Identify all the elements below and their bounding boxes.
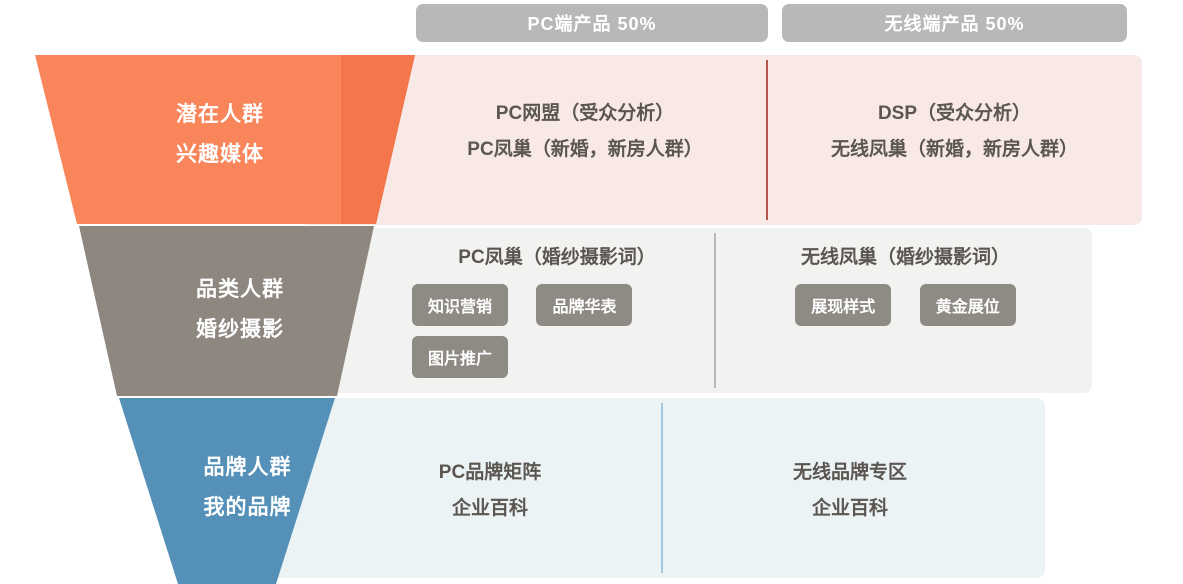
funnel-label-1-subtitle: 兴趣媒体 <box>120 135 320 175</box>
cell-row2-wireless-tags: 展现样式 黄金展位 <box>733 284 1078 336</box>
cell-row3-pc-line-2: 企业百科 <box>340 491 640 527</box>
funnel-label-2: 品类人群 婚纱摄影 <box>140 270 340 350</box>
header-pill-pc[interactable]: PC端产品 50% <box>416 4 768 42</box>
cell-row2-pc-line-1: PC凤巢（婚纱摄影词） <box>412 240 702 276</box>
tag-huangjinzhanwei[interactable]: 黄金展位 <box>920 284 1016 326</box>
cell-row1-pc: PC网盟（受众分析） PC凤巢（新婚，新房人群） <box>420 96 750 168</box>
cell-row1-pc-line-1: PC网盟（受众分析） <box>420 96 750 132</box>
cell-row1-wireless-line-1: DSP（受众分析） <box>782 96 1127 132</box>
funnel-label-3: 品牌人群 我的品牌 <box>155 448 340 528</box>
header-pill-pc-label: PC端产品 50% <box>527 10 656 36</box>
cell-row2-wireless-line-1: 无线凤巢（婚纱摄影词） <box>733 240 1078 276</box>
cell-row2-pc: PC凤巢（婚纱摄影词） 知识营销 品牌华表 图片推广 <box>412 240 702 388</box>
cell-row3-wireless-line-2: 企业百科 <box>700 491 1000 527</box>
tag-zhanxianyangshi[interactable]: 展现样式 <box>795 284 891 326</box>
funnel-label-3-title: 品牌人群 <box>155 448 340 488</box>
cell-row2-wireless: 无线凤巢（婚纱摄影词） 展现样式 黄金展位 <box>733 240 1078 336</box>
column-divider-row-3 <box>661 403 663 573</box>
column-divider-row-1 <box>766 60 768 220</box>
cell-row3-pc-line-1: PC品牌矩阵 <box>340 455 640 491</box>
tag-zhishiyingxiao[interactable]: 知识营销 <box>412 284 508 326</box>
funnel-label-2-title: 品类人群 <box>140 270 340 310</box>
cell-row3-wireless: 无线品牌专区 企业百科 <box>700 455 1000 527</box>
cell-row1-wireless-line-2: 无线凤巢（新婚，新房人群） <box>782 132 1127 168</box>
cell-row1-wireless: DSP（受众分析） 无线凤巢（新婚，新房人群） <box>782 96 1127 168</box>
header-pill-wireless-label: 无线端产品 50% <box>884 10 1024 36</box>
cell-row2-pc-tags: 知识营销 品牌华表 图片推广 <box>412 284 702 388</box>
funnel-diagram: PC端产品 50% 无线端产品 50% 潜在人群 兴趣媒体 品类人群 婚纱摄影 … <box>0 0 1183 584</box>
tag-pinpaihuabiao[interactable]: 品牌华表 <box>536 284 632 326</box>
header-pill-wireless[interactable]: 无线端产品 50% <box>782 4 1127 42</box>
cell-row3-wireless-line-1: 无线品牌专区 <box>700 455 1000 491</box>
funnel-label-1: 潜在人群 兴趣媒体 <box>120 95 320 175</box>
funnel-label-1-title: 潜在人群 <box>120 95 320 135</box>
cell-row3-pc: PC品牌矩阵 企业百科 <box>340 455 640 527</box>
tag-tupiantuiguang[interactable]: 图片推广 <box>412 336 508 378</box>
cell-row1-pc-line-2: PC凤巢（新婚，新房人群） <box>420 132 750 168</box>
funnel-label-2-subtitle: 婚纱摄影 <box>140 310 340 350</box>
funnel-label-3-subtitle: 我的品牌 <box>155 488 340 528</box>
column-divider-row-2 <box>714 233 716 388</box>
